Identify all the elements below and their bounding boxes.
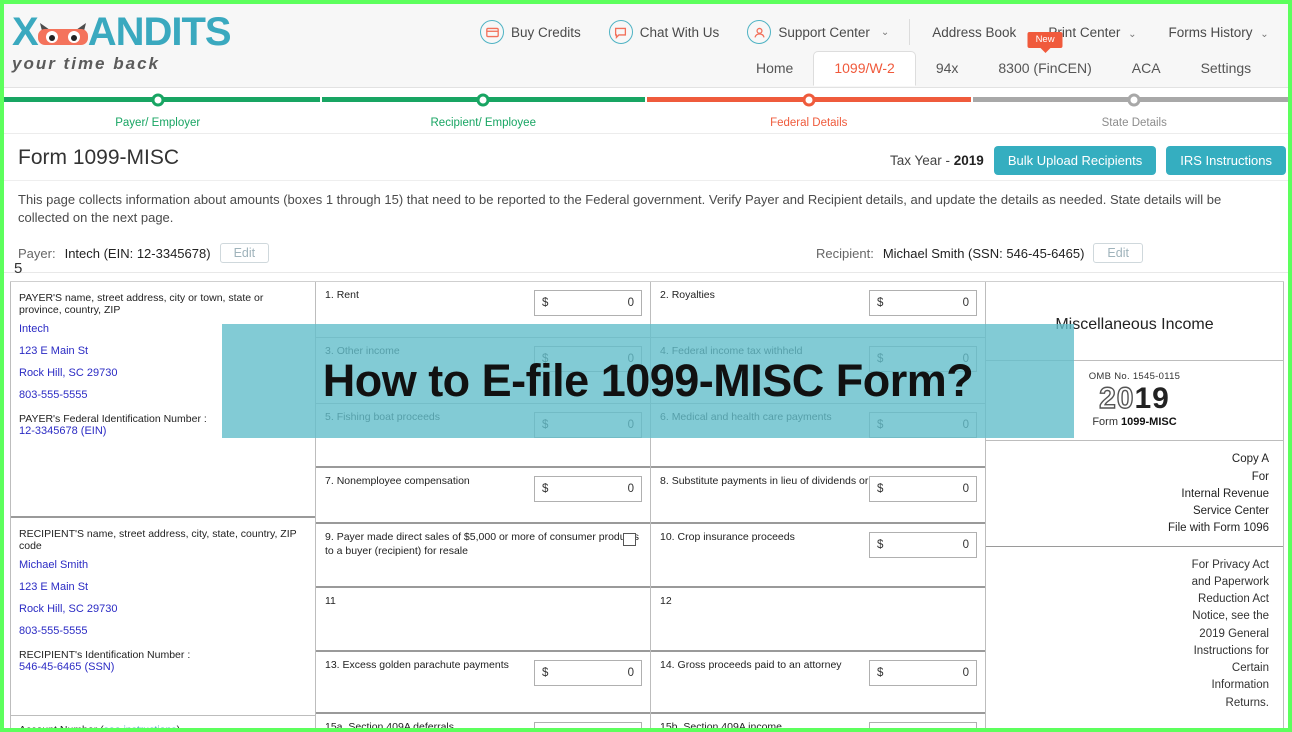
app-shell: XANDITS your time back Buy Credits Chat … — [0, 4, 1292, 728]
box-15b-label: Section 409A income — [683, 721, 782, 728]
privacy-line-4: Notice, see the — [986, 608, 1269, 625]
copy-line-4: Service Center — [986, 503, 1269, 520]
step-recipient-employee-label: Recipient/ Employee — [322, 117, 646, 129]
page-header-actions: Tax Year - 2019 Bulk Upload Recipients I… — [890, 146, 1286, 175]
chat-bubble-icon — [609, 20, 633, 44]
payer-block: PAYER'S name, street address, city or to… — [11, 282, 315, 518]
box-12-num: 12 — [660, 595, 672, 607]
form-number: Form 1099-MISC — [986, 416, 1283, 428]
parties-column: PAYER'S name, street address, city or to… — [11, 282, 316, 728]
payer-tin-value: 12-3345678 (EIN) — [19, 425, 307, 437]
box-5-fishing-boat-proceeds: 5. Fishing boat proceeds $ 0 — [316, 404, 650, 468]
top-navigation: Buy Credits Chat With Us Support Center … — [466, 14, 1292, 50]
payer-heading: PAYER'S name, street address, city or to… — [19, 292, 307, 316]
tab-aca-label: ACA — [1132, 60, 1161, 76]
tab-8300-fincen[interactable]: New 8300 (FinCEN) — [978, 52, 1111, 85]
recipient-street: 123 E Main St — [19, 581, 307, 593]
box-15b-section-409a-income: 15b. Section 409A income $ 0 — [651, 714, 985, 728]
box-1-label: Rent — [337, 289, 359, 301]
tab-1099-w2-label: 1099/W-2 — [834, 60, 894, 76]
progress-track: Payer/ Employer Recipient/ Employee Fede… — [0, 97, 1292, 102]
box-2-num: 2. — [660, 289, 669, 301]
box-13-amount-input[interactable]: $ 0 — [534, 660, 642, 686]
nav-support-center-label: Support Center — [778, 25, 870, 40]
box-6-value: 0 — [963, 418, 969, 432]
box-3-currency: $ — [542, 352, 548, 366]
step-payer-employer[interactable]: Payer/ Employer — [0, 97, 320, 102]
box-8-substitute-payments: 8. Substitute payments in lieu of divide… — [651, 468, 985, 524]
payer-value: Intech (EIN: 12-3345678) — [65, 246, 211, 261]
box-15a-label: Section 409A deferrals — [348, 721, 454, 728]
step-federal-details[interactable]: Federal Details — [645, 97, 971, 102]
box-8-currency: $ — [877, 482, 883, 496]
bandit-mask-icon — [36, 22, 90, 48]
payer-identity: Payer: Intech (EIN: 12-3345678) Edit — [18, 243, 269, 263]
step-recipient-employee[interactable]: Recipient/ Employee — [320, 97, 646, 102]
box-6-num: 6. — [660, 411, 669, 423]
nav-buy-credits-label: Buy Credits — [511, 25, 581, 40]
box-14-label: Gross proceeds paid to an attorney — [678, 659, 842, 671]
box-3-label: Other income — [337, 345, 400, 357]
box-7-amount-input[interactable]: $ 0 — [534, 476, 642, 502]
box-1-currency: $ — [542, 296, 548, 310]
page-description: This page collects information about amo… — [0, 181, 1292, 237]
box-1-value: 0 — [628, 296, 634, 310]
box-14-gross-proceeds-attorney: 14. Gross proceeds paid to an attorney $… — [651, 652, 985, 714]
form-year-prefix: 20 — [1099, 382, 1134, 415]
box-6-medical-health-care-payments: 6. Medical and health care payments $ 0 — [651, 404, 985, 468]
box-14-value: 0 — [963, 666, 969, 680]
box-14-num: 14. — [660, 659, 675, 671]
brand-tagline: your time back — [12, 54, 262, 74]
step-state-details-label: State Details — [973, 117, 1292, 129]
box-6-label: Medical and health care payments — [672, 411, 832, 423]
box-7-num: 7. — [325, 475, 334, 487]
box-4-num: 4. — [660, 345, 669, 357]
box-1-rent: 1. Rent $ 0 — [316, 282, 650, 338]
nav-forms-history[interactable]: Forms History ⌄ — [1153, 21, 1285, 44]
box-9-direct-sales: 9. Payer made direct sales of $5,000 or … — [316, 524, 650, 588]
recipient-phone: 803-555-5555 — [19, 625, 307, 637]
tab-home[interactable]: Home — [736, 52, 813, 85]
recipient-tin-label: RECIPIENT's Identification Number : — [19, 649, 307, 661]
box-10-amount-input[interactable]: $ 0 — [869, 532, 977, 558]
box-13-label: Excess golden parachute payments — [343, 659, 509, 671]
support-agent-icon — [747, 20, 771, 44]
box-2-currency: $ — [877, 296, 883, 310]
chevron-down-icon: ⌄ — [1128, 29, 1136, 40]
tab-1099-w2[interactable]: 1099/W-2 — [813, 51, 915, 86]
tax-year: Tax Year - 2019 — [890, 153, 984, 168]
box-14-currency: $ — [877, 666, 883, 680]
boxes-left-column: 1. Rent $ 0 3. Other income $ 0 — [316, 282, 651, 728]
progress-stepper: Payer/ Employer Recipient/ Employee Fede… — [0, 88, 1292, 134]
payer-city-state-zip: Rock Hill, SC 29730 — [19, 367, 307, 379]
account-number-label-text: Account Number ( — [19, 724, 104, 728]
box-9-checkbox[interactable] — [623, 533, 636, 546]
step-state-details[interactable]: State Details — [971, 97, 1292, 102]
page-header: Form 1099-MISC Tax Year - 2019 Bulk Uplo… — [0, 134, 1292, 181]
box-6-currency: $ — [877, 418, 883, 432]
copy-a-block: Copy A For Internal Revenue Service Cent… — [986, 441, 1283, 546]
account-number-label-end: ) — [177, 724, 181, 728]
bulk-upload-recipients-button[interactable]: Bulk Upload Recipients — [994, 146, 1156, 175]
new-badge: New — [1028, 32, 1063, 48]
recipient-value: Michael Smith (SSN: 546-45-6465) — [883, 246, 1085, 261]
box-12: 12 — [651, 588, 985, 652]
privacy-notice-block: For Privacy Act and Paperwork Reduction … — [986, 547, 1283, 712]
box-3-num: 3. — [325, 345, 334, 357]
box-8-amount-input[interactable]: $ 0 — [869, 476, 977, 502]
box-13-value: 0 — [628, 666, 634, 680]
nav-forms-history-label: Forms History — [1169, 25, 1253, 40]
payer-tin-label: PAYER's Federal Identification Number : — [19, 413, 307, 425]
box-1-amount-input[interactable]: $ 0 — [534, 290, 642, 316]
box-2-label: Royalties — [672, 289, 715, 301]
box-13-currency: $ — [542, 666, 548, 680]
privacy-line-8: Information — [986, 677, 1269, 694]
form-year: 2019 — [986, 382, 1283, 416]
form-1099-misc-sheet: 5 PAYER'S name, street address, city or … — [10, 281, 1284, 728]
box-6-amount-input[interactable]: $ 0 — [869, 412, 977, 438]
box-5-currency: $ — [542, 418, 548, 432]
form-number-label: Form — [1092, 416, 1121, 428]
box-7-label: Nonemployee compensation — [337, 475, 470, 487]
box-14-amount-input[interactable]: $ 0 — [869, 660, 977, 686]
copy-line-3: Internal Revenue — [986, 486, 1269, 503]
box-10-currency: $ — [877, 538, 883, 552]
box-2-amount-input[interactable]: $ 0 — [869, 290, 977, 316]
box-8-num: 8. — [660, 475, 669, 487]
box-10-value: 0 — [963, 538, 969, 552]
see-instructions-link[interactable]: see instructions — [104, 724, 177, 728]
privacy-line-7: Certain — [986, 660, 1269, 677]
nav-address-book-label: Address Book — [932, 25, 1016, 40]
nav-buy-credits[interactable]: Buy Credits — [466, 16, 595, 48]
box-15a-amount-input[interactable]: $ 0 — [534, 722, 642, 728]
recipient-identity: Recipient: Michael Smith (SSN: 546-45-64… — [816, 243, 1143, 263]
omb-block: OMB No. 1545-0115 2019 Form 1099-MISC — [986, 360, 1283, 441]
box-10-num: 10. — [660, 531, 675, 543]
account-number-label: Account Number (see instructions) — [19, 724, 307, 728]
corrected-number: 5 — [14, 260, 22, 277]
payer-phone: 803-555-5555 — [19, 389, 307, 401]
boxes-right-column: 2. Royalties $ 0 4. Federal income tax w… — [651, 282, 986, 728]
box-7-currency: $ — [542, 482, 548, 496]
copy-line-1: Copy A — [986, 451, 1269, 468]
box-15a-section-409a-deferrals: 15a. Section 409A deferrals $ 0 — [316, 714, 650, 728]
step-node-icon — [1128, 93, 1141, 106]
box-4-value: 0 — [963, 352, 969, 366]
box-7-value: 0 — [628, 482, 634, 496]
step-federal-details-label: Federal Details — [647, 117, 971, 129]
brand-logo[interactable]: XANDITS your time back — [12, 12, 262, 78]
tab-home-label: Home — [756, 60, 793, 76]
box-5-value: 0 — [628, 418, 634, 432]
copy-line-2: For — [986, 469, 1269, 486]
chevron-down-icon: ⌄ — [1260, 29, 1268, 40]
miscellaneous-income-title: Miscellaneous Income — [986, 282, 1283, 360]
box-4-federal-income-tax-withheld: 4. Federal income tax withheld $ 0 — [651, 338, 985, 404]
box-3-amount-input[interactable]: $ 0 — [534, 346, 642, 372]
box-4-currency: $ — [877, 352, 883, 366]
privacy-line-6: Instructions for — [986, 643, 1269, 660]
box-10-crop-insurance-proceeds: 10. Crop insurance proceeds $ 0 — [651, 524, 985, 588]
module-tabs: Home 1099/W-2 94x New 8300 (FinCEN) ACA … — [736, 51, 1271, 85]
chevron-down-icon: ⌄ — [881, 27, 889, 38]
box-5-num: 5. — [325, 411, 334, 423]
tab-8300-fincen-label: 8300 (FinCEN) — [998, 60, 1091, 76]
form-info-column: Miscellaneous Income OMB No. 1545-0115 2… — [986, 282, 1284, 728]
omb-number: OMB No. 1545-0115 — [986, 371, 1283, 382]
nav-divider — [909, 19, 910, 45]
box-8-value: 0 — [963, 482, 969, 496]
step-node-icon — [802, 93, 815, 106]
nav-support-center[interactable]: Support Center ⌄ — [733, 16, 903, 48]
recipient-city-state-zip: Rock Hill, SC 29730 — [19, 603, 307, 615]
form-number-value: 1099-MISC — [1121, 416, 1177, 428]
top-bar: XANDITS your time back Buy Credits Chat … — [0, 4, 1292, 88]
screenshot-frame: XANDITS your time back Buy Credits Chat … — [0, 0, 1292, 732]
form-grid: PAYER'S name, street address, city or to… — [10, 282, 1284, 728]
box-9-label: Payer made direct sales of $5,000 or mor… — [325, 531, 639, 556]
recipient-name: Michael Smith — [19, 559, 307, 571]
tab-settings[interactable]: Settings — [1181, 52, 1272, 85]
box-15a-num: 15a. — [325, 721, 345, 728]
step-node-icon — [477, 93, 490, 106]
recipient-block: RECIPIENT'S name, street address, city, … — [11, 518, 315, 716]
form-year-suffix: 19 — [1135, 382, 1170, 415]
copy-line-5: File with Form 1096 — [986, 520, 1269, 537]
box-5-label: Fishing boat proceeds — [337, 411, 440, 423]
identity-row: Payer: Intech (EIN: 12-3345678) Edit Rec… — [0, 237, 1292, 273]
box-3-value: 0 — [628, 352, 634, 366]
box-9-num: 9. — [325, 531, 334, 543]
recipient-edit-button[interactable]: Edit — [1093, 243, 1143, 263]
step-payer-employer-label: Payer/ Employer — [0, 117, 320, 129]
tax-year-value: 2019 — [954, 153, 984, 168]
privacy-line-9: Returns. — [986, 695, 1269, 712]
box-2-royalties: 2. Royalties $ 0 — [651, 282, 985, 338]
box-15b-num: 15b. — [660, 721, 680, 728]
nav-chat-with-us-label: Chat With Us — [640, 25, 720, 40]
box-2-value: 0 — [963, 296, 969, 310]
nav-chat-with-us[interactable]: Chat With Us — [595, 16, 734, 48]
box-3-other-income: 3. Other income $ 0 — [316, 338, 650, 404]
privacy-line-1: For Privacy Act — [986, 557, 1269, 574]
recipient-label: Recipient: — [816, 246, 874, 261]
recipient-tin-value: 546-45-6465 (SSN) — [19, 661, 307, 673]
tax-year-label: Tax Year - — [890, 153, 954, 168]
tab-settings-label: Settings — [1201, 60, 1252, 76]
brand-logo-x: X — [12, 10, 38, 54]
tab-aca[interactable]: ACA — [1112, 52, 1181, 85]
box-5-amount-input[interactable]: $ 0 — [534, 412, 642, 438]
credit-card-icon — [480, 20, 504, 44]
box-4-label: Federal income tax withheld — [672, 345, 803, 357]
box-10-label: Crop insurance proceeds — [678, 531, 795, 543]
recipient-heading: RECIPIENT'S name, street address, city, … — [19, 528, 307, 552]
brand-logo-name: ANDITS — [88, 10, 231, 54]
box-7-nonemployee-compensation: 7. Nonemployee compensation $ 0 — [316, 468, 650, 524]
payer-edit-button[interactable]: Edit — [220, 243, 270, 263]
brand-logo-text: XANDITS — [12, 12, 262, 52]
nav-address-book[interactable]: Address Book — [916, 21, 1032, 44]
box-1-num: 1. — [325, 289, 334, 301]
payer-street: 123 E Main St — [19, 345, 307, 357]
box-15b-amount-input[interactable]: $ 0 — [869, 722, 977, 728]
privacy-line-3: Reduction Act — [986, 591, 1269, 608]
account-number-block: Account Number (see instructions) — [11, 716, 315, 728]
box-13-excess-golden-parachute: 13. Excess golden parachute payments $ 0 — [316, 652, 650, 714]
privacy-line-2: and Paperwork — [986, 574, 1269, 591]
tab-94x[interactable]: 94x — [916, 52, 979, 85]
box-13-num: 13. — [325, 659, 340, 671]
payer-name: Intech — [19, 323, 307, 335]
privacy-line-5: 2019 General — [986, 626, 1269, 643]
step-node-icon — [151, 93, 164, 106]
irs-instructions-button[interactable]: IRS Instructions — [1166, 146, 1286, 175]
box-4-amount-input[interactable]: $ 0 — [869, 346, 977, 372]
box-11-num: 11 — [325, 595, 336, 607]
box-11: 11 — [316, 588, 650, 652]
tab-94x-label: 94x — [936, 60, 959, 76]
payer-label: Payer: — [18, 246, 56, 261]
